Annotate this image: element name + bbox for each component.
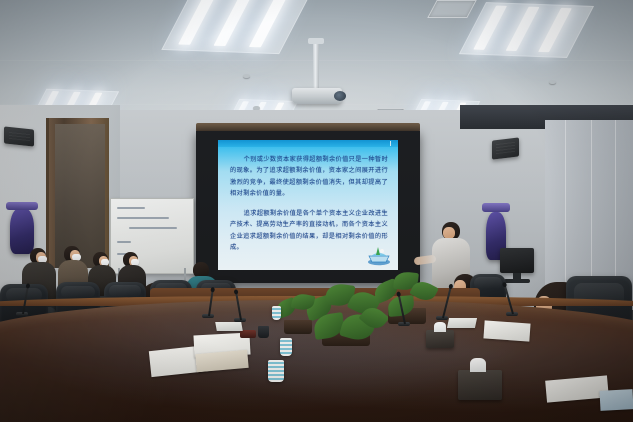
wall-speaker-left <box>4 126 34 146</box>
smoke-detector <box>549 80 556 84</box>
ceiling-projector <box>292 88 342 104</box>
slide-text-body: 个别或少数资本家获得超额剩余价值只是一种暂时的现象。为了追求超额剩余价值，资本家… <box>230 154 388 262</box>
whiteboard-ink-line <box>117 207 145 209</box>
mug[interactable] <box>258 326 269 338</box>
tissue <box>434 322 446 332</box>
tissue <box>470 358 486 372</box>
tissue-box[interactable] <box>426 330 454 348</box>
whiteboard-ink-line <box>117 241 131 243</box>
smoke-detector <box>243 74 250 78</box>
projector-lens-icon <box>334 91 346 101</box>
mug[interactable] <box>240 330 256 338</box>
slide-paragraph-2: 追求超额剩余价值是各个单个资本主义企业改进生产技术、提高劳动生产率的直接动机，而… <box>230 208 388 253</box>
paper-cup[interactable] <box>280 338 292 356</box>
name-plate <box>447 318 477 328</box>
paper-sheet[interactable] <box>599 389 633 411</box>
blue-bowl-logo-icon <box>367 244 391 266</box>
table-plant-right <box>372 268 442 326</box>
whiteboard-ink-line <box>129 227 177 229</box>
vase-rim-right <box>482 203 510 212</box>
tissue-box[interactable] <box>458 370 502 400</box>
vase-rim-left <box>6 202 38 210</box>
paper-cup[interactable] <box>272 306 281 320</box>
panel-seam <box>591 120 592 295</box>
whiteboard-ink-line <box>117 217 169 219</box>
paper-sheet[interactable] <box>483 320 530 341</box>
panel-seam <box>565 120 566 295</box>
plant-pot <box>284 320 312 334</box>
slide-header-band <box>218 140 398 147</box>
projection-screen: 个别或少数资本家获得超额剩余价值只是一种暂时的现象。为了追求超额剩余价值，资本家… <box>196 131 420 283</box>
wall-speaker-right <box>492 137 519 159</box>
conference-room-photo: 个别或少数资本家获得超额剩余价值只是一种暂时的现象。为了追求超额剩余价值，资本家… <box>0 0 633 422</box>
panel-seam <box>615 120 616 295</box>
presentation-slide: 个别或少数资本家获得超额剩余价值只是一种暂时的现象。为了追求超额剩余价值，资本家… <box>218 140 398 270</box>
projector-mount-pole <box>313 42 319 90</box>
paper-cup[interactable] <box>268 360 284 382</box>
slide-paragraph-1: 个别或少数资本家获得超额剩余价值只是一种暂时的现象。为了追求超额剩余价值，资本家… <box>230 154 388 199</box>
name-plate <box>215 322 243 331</box>
desktop-monitor[interactable] <box>500 248 534 273</box>
right-wall-panel <box>545 120 633 295</box>
